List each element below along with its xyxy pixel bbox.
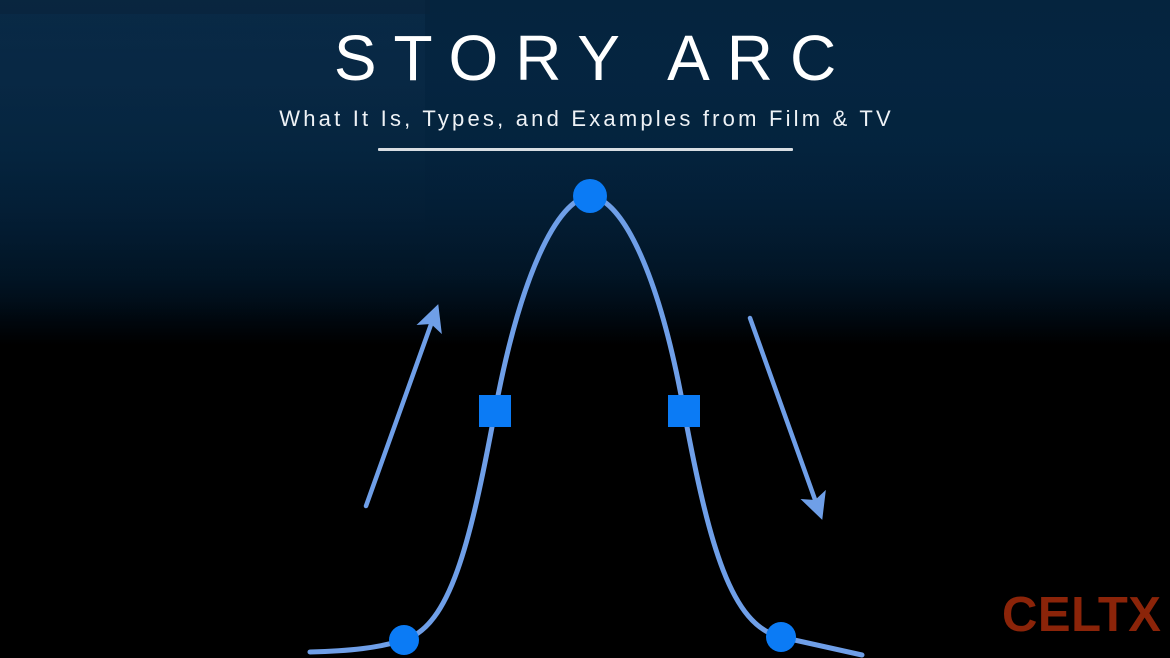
celtx-logo: CELTX [1002, 591, 1161, 640]
marker-inciting-incident [389, 625, 419, 655]
page-title: STORY ARC [0, 0, 1170, 90]
page-subtitle: What It Is, Types, and Examples from Fil… [0, 90, 1170, 130]
rising-arrow [366, 316, 434, 506]
marker-rising-action [479, 395, 511, 427]
falling-arrow [750, 318, 818, 508]
marker-climax [573, 179, 607, 213]
marker-resolution [766, 622, 796, 652]
story-arc-graphic: STORY ARC What It Is, Types, and Example… [0, 0, 1170, 658]
header: STORY ARC What It Is, Types, and Example… [0, 0, 1170, 130]
marker-falling-action [668, 395, 700, 427]
